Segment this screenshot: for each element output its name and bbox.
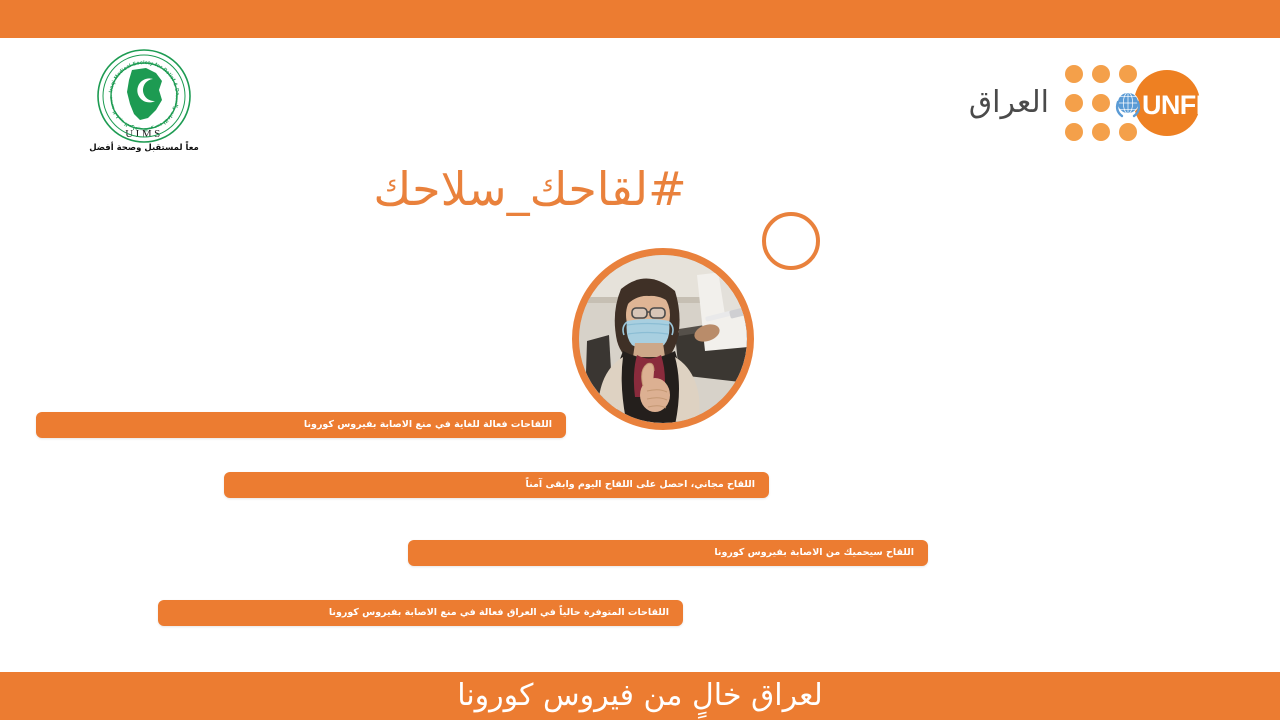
- message-pill-4[interactable]: اللقاحات المتوفرة حالياً في العراق فعالة…: [158, 600, 683, 626]
- message-pill-1[interactable]: اللقاحات فعالة للغاية في منع الاصابة بفي…: [36, 412, 566, 438]
- message-list: اللقاحات فعالة للغاية في منع الاصابة بفي…: [0, 410, 1280, 640]
- campaign-hashtag: #لقاحك_سلاحك: [0, 162, 1060, 216]
- message-pill-2[interactable]: اللقاح مجاني، احصل على اللقاح اليوم وابق…: [224, 472, 769, 498]
- footer-slogan-bar: لعراق خالٍ من فيروس كورونا: [0, 672, 1280, 720]
- message-pill-1-text: اللقاحات فعالة للغاية في منع الاصابة بفي…: [304, 420, 552, 430]
- unfpa-mark-icon: UNFPA: [1063, 62, 1208, 144]
- footer-slogan-text: لعراق خالٍ من فيروس كورونا: [457, 681, 823, 711]
- message-pill-3-text: اللقاح سيحميك من الاصابة بفيروس كورونا: [714, 548, 914, 558]
- svg-text:UNFPA: UNFPA: [1142, 90, 1208, 120]
- circle-outline-decoration-icon: [762, 212, 820, 270]
- unfpa-logo: UNFPA العراق: [969, 60, 1208, 146]
- message-pill-4-text: اللقاحات المتوفرة حالياً في العراق فعالة…: [329, 608, 669, 618]
- uims-tagline: معاً لمستقبل وصحة أفضل: [78, 143, 210, 153]
- message-pill-2-text: اللقاح مجاني، احصل على اللقاح اليوم وابق…: [526, 480, 755, 490]
- uims-logo: The United Iraqi Medical Society for Rel…: [78, 48, 210, 160]
- vaccination-photo-image: [579, 255, 747, 423]
- vaccination-photo: [572, 248, 754, 430]
- top-orange-bar: [0, 0, 1280, 38]
- unfpa-country-label: العراق: [969, 88, 1049, 118]
- uims-seal-icon: The United Iraqi Medical Society for Rel…: [96, 48, 192, 144]
- message-pill-3[interactable]: اللقاح سيحميك من الاصابة بفيروس كورونا: [408, 540, 928, 566]
